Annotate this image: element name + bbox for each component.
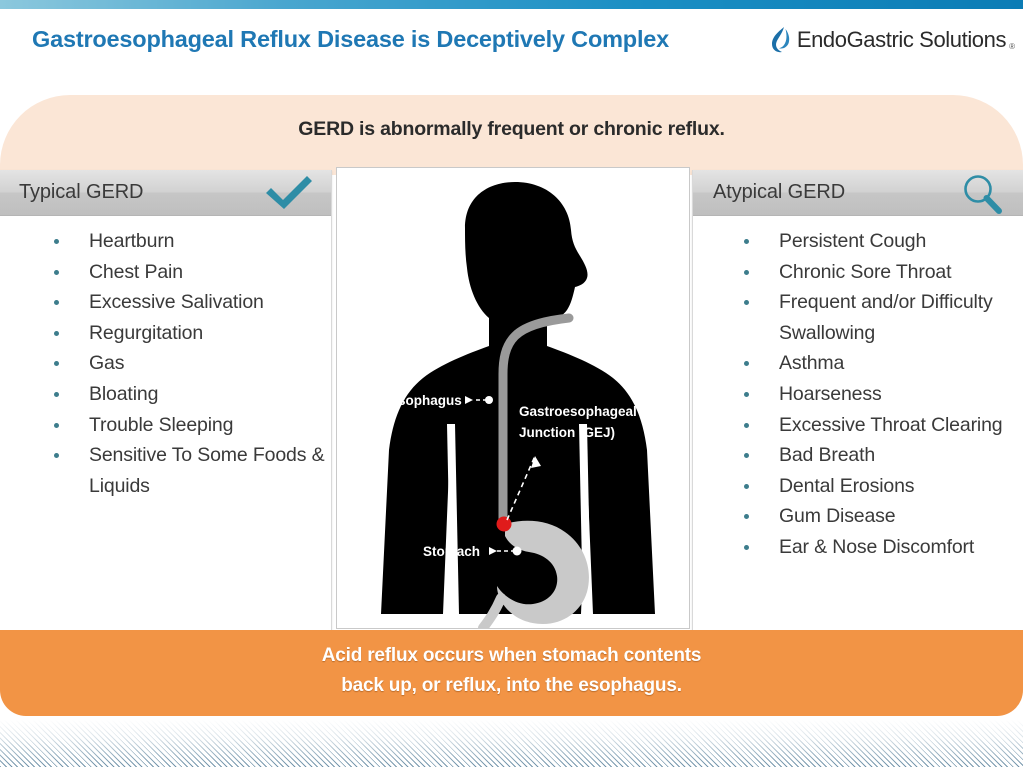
top-accent-bar	[0, 0, 1023, 9]
list-item: Trouble Sleeping	[51, 410, 331, 441]
typical-gerd-panel: Typical GERD Heartburn Chest Pain Excess…	[0, 170, 332, 632]
header: Gastroesophageal Reflux Disease is Decep…	[0, 9, 1023, 91]
list-item: Ear & Nose Discomfort	[741, 532, 1023, 563]
svg-text:Gastroesophageal: Gastroesophageal	[519, 404, 637, 419]
logo-trademark: ®	[1009, 42, 1015, 55]
list-item: Chest Pain	[51, 257, 331, 288]
svg-text:Esophagus: Esophagus	[389, 393, 462, 408]
list-item: Persistent Cough	[741, 226, 1023, 257]
list-item: Hoarseness	[741, 379, 1023, 410]
logo-text: EndoGastric Solutions	[797, 27, 1006, 53]
list-item: Bad Breath	[741, 440, 1023, 471]
atypical-gerd-heading: Atypical GERD	[713, 181, 845, 204]
list-item: Gas	[51, 348, 331, 379]
svg-text:Stomach: Stomach	[423, 544, 480, 559]
brand-logo: EndoGastric Solutions ®	[768, 25, 1015, 55]
anatomy-diagram: Esophagus Gastroesophageal Junction (GEJ…	[336, 167, 690, 629]
atypical-gerd-panel: Atypical GERD Persistent Cough Chronic S…	[692, 170, 1023, 632]
atypical-gerd-header: Atypical GERD	[693, 170, 1023, 216]
gej-marker-dot	[497, 517, 512, 532]
subtitle-text: GERD is abnormally frequent or chronic r…	[0, 118, 1023, 141]
svg-text:Junction (GEJ): Junction (GEJ)	[519, 425, 615, 440]
list-item: Chronic Sore Throat	[741, 257, 1023, 288]
list-item: Sensitive To Some Foods & Liquids	[51, 440, 331, 501]
footer-banner: Acid reflux occurs when stomach contents…	[0, 630, 1023, 716]
list-item: Asthma	[741, 348, 1023, 379]
footer-line-1: Acid reflux occurs when stomach contents	[0, 645, 1023, 667]
list-item: Heartburn	[51, 226, 331, 257]
list-item: Gum Disease	[741, 501, 1023, 532]
typical-gerd-header: Typical GERD	[0, 170, 331, 216]
list-item: Excessive Throat Clearing	[741, 410, 1023, 441]
list-item: Frequent and/or Difficulty Swallowing	[741, 287, 1023, 348]
footer-line-2: back up, or reflux, into the esophagus.	[0, 675, 1023, 697]
list-item: Regurgitation	[51, 318, 331, 349]
subtitle-banner: GERD is abnormally frequent or chronic r…	[0, 95, 1023, 175]
typical-symptom-list: Heartburn Chest Pain Excessive Salivatio…	[0, 226, 331, 501]
list-item: Excessive Salivation	[51, 287, 331, 318]
typical-gerd-heading: Typical GERD	[19, 181, 143, 204]
page-title: Gastroesophageal Reflux Disease is Decep…	[32, 26, 669, 53]
magnifier-icon	[957, 174, 1009, 219]
atypical-symptom-list: Persistent Cough Chronic Sore Throat Fre…	[693, 226, 1023, 563]
decorative-hatch-strip	[0, 720, 1023, 767]
list-item: Bloating	[51, 379, 331, 410]
logo-droplet-icon	[768, 25, 794, 55]
check-icon	[263, 174, 315, 217]
list-item: Dental Erosions	[741, 471, 1023, 502]
